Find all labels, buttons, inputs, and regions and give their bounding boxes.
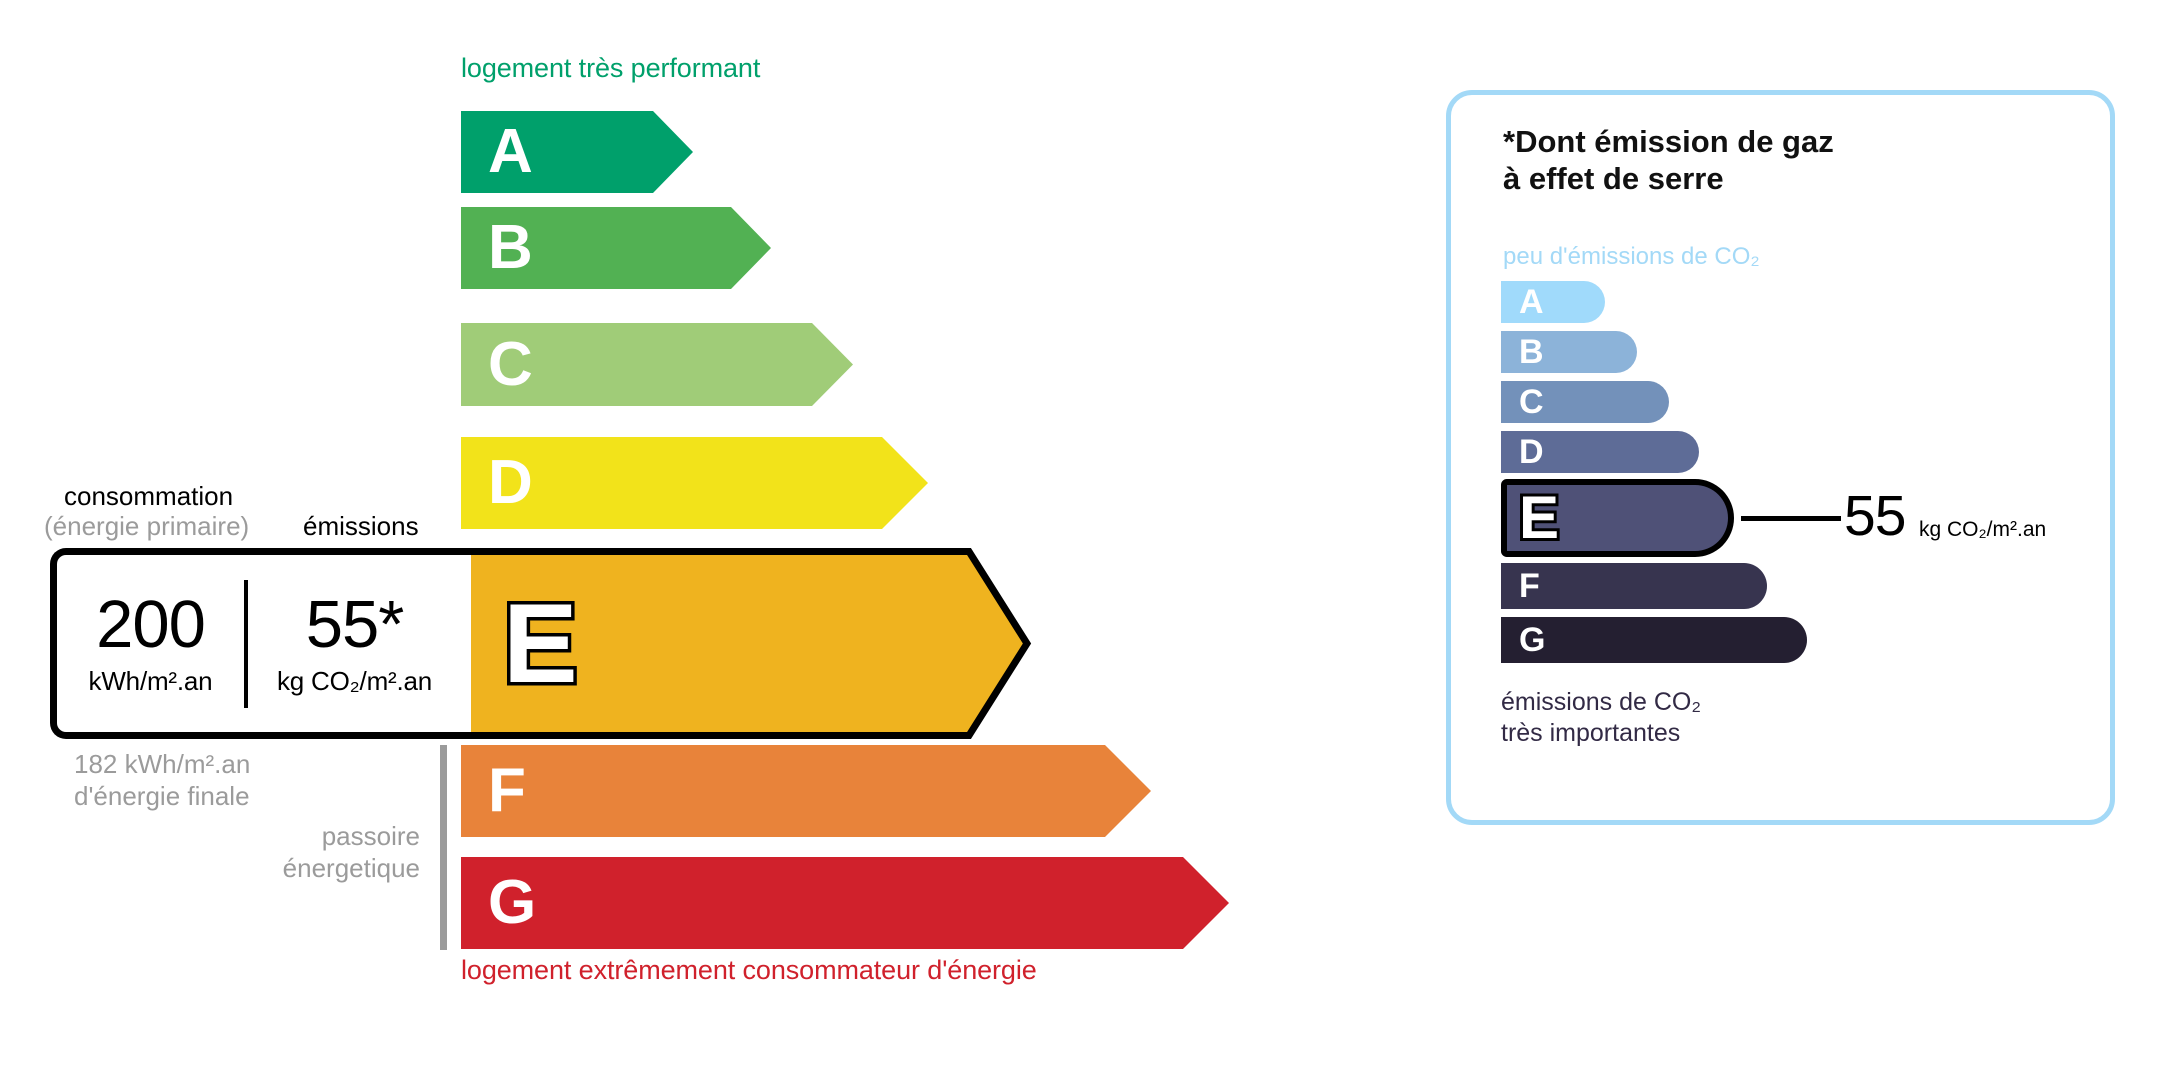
energy-bar-d: D [461, 437, 928, 529]
passoire-note: passoire énergetique [190, 820, 420, 884]
header-consumption-label: consommation [64, 481, 233, 512]
final-energy-line2: d'énergie finale [74, 781, 250, 811]
co2-panel-title: *Dont émission de gaz à effet de serre [1503, 123, 1834, 197]
co2-title-line1: *Dont émission de gaz [1503, 124, 1834, 159]
co2-bar-d: D [1501, 431, 1699, 473]
dpe-infographic: logement très performant A B [0, 0, 2169, 1079]
energy-top-caption: logement très performant [461, 53, 760, 84]
energy-value-box: 200 kWh/m².an 55* kg CO₂/m².an [50, 548, 471, 739]
co2-bar-f: F [1501, 563, 1767, 609]
energy-grade-letter-g: G [488, 872, 536, 934]
header-emissions-label: émissions [303, 511, 419, 542]
energy-grade-letter-c: C [488, 334, 533, 396]
energy-bar-f: F [461, 745, 1151, 837]
co2-callout-value: 55 [1844, 488, 1905, 545]
energy-performance-chart: logement très performant A B [0, 0, 1400, 1079]
energy-grade-letter-b: B [488, 217, 533, 279]
energy-bar-g: G [461, 857, 1229, 949]
passoire-line1: passoire [322, 821, 420, 851]
co2-grade-letter-d: D [1519, 435, 1544, 469]
final-energy-line1: 182 kWh/m².an [74, 749, 250, 779]
energy-grade-letter-d: D [488, 452, 533, 514]
co2-grade-letter-b: B [1519, 335, 1544, 369]
energy-value-cell: 200 kWh/m².an [57, 591, 244, 697]
co2-bar-shape-f [1501, 563, 1767, 609]
energy-bar-b: B [461, 207, 771, 289]
co2-callout-unit: kg CO₂/m².an [1919, 518, 2046, 542]
co2-top-caption: peu d'émissions de CO₂ [1503, 243, 1760, 271]
co2-emissions-panel: *Dont émission de gaz à effet de serre p… [1446, 90, 2115, 825]
co2-bar-g: G [1501, 617, 1807, 663]
co2-grade-letter-e: E [1519, 488, 1559, 548]
co2-grade-letter-g: G [1519, 623, 1545, 657]
co2-bottom-caption-line2: très importantes [1501, 719, 1680, 747]
energy-bar-e-selected: E [461, 548, 1033, 739]
energy-arrow-shape-g [461, 857, 1229, 949]
energy-grade-letter-f: F [488, 760, 526, 822]
energy-arrow-shape-f [461, 745, 1151, 837]
co2-bar-c: C [1501, 381, 1669, 423]
co2-bar-e-selected: E [1501, 479, 1734, 557]
energy-bottom-caption: logement extrêmement consommateur d'éner… [461, 955, 1037, 986]
energy-grade-letter-e: E [503, 588, 578, 700]
co2-grade-letter-f: F [1519, 569, 1540, 603]
final-energy-note: 182 kWh/m².an d'énergie finale [74, 748, 250, 812]
co2-value: 55* [252, 591, 457, 658]
co2-title-line2: à effet de serre [1503, 161, 1724, 196]
energy-bar-a: A [461, 111, 693, 193]
energy-value: 200 [61, 591, 240, 658]
co2-bar-a: A [1501, 281, 1605, 323]
co2-value-cell: 55* kg CO₂/m².an [248, 591, 461, 697]
co2-unit: kg CO₂/m².an [252, 666, 457, 697]
passoire-indicator-bar [440, 745, 447, 950]
energy-bar-c: C [461, 323, 853, 406]
co2-bar-shape-a [1501, 281, 1605, 323]
header-consumption-sublabel: (énergie primaire) [44, 511, 249, 542]
co2-leader-line [1741, 516, 1841, 521]
co2-bar-b: B [1501, 331, 1637, 373]
energy-unit: kWh/m².an [61, 666, 240, 697]
co2-bottom-caption: émissions de CO₂ très importantes [1501, 687, 1701, 748]
energy-grade-letter-a: A [488, 121, 533, 183]
co2-grade-letter-a: A [1519, 285, 1544, 319]
co2-bar-shape-g [1501, 617, 1807, 663]
co2-bottom-caption-line1: émissions de CO₂ [1501, 688, 1701, 716]
co2-grade-letter-c: C [1519, 385, 1544, 419]
passoire-line2: énergetique [283, 853, 420, 883]
